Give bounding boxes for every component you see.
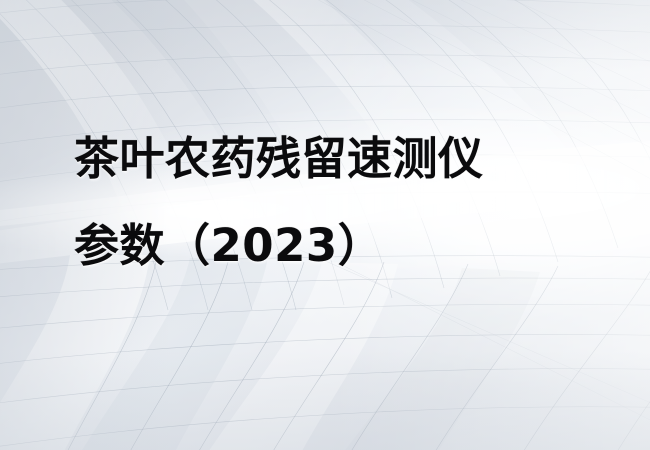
banner-title: 茶叶农药残留速测仪 参数（2023）: [74, 136, 594, 268]
title-line-2: 参数（2023）: [74, 223, 594, 268]
title-banner: 茶叶农药残留速测仪 参数（2023）: [0, 0, 650, 450]
title-line-1: 茶叶农药残留速测仪: [74, 136, 594, 181]
